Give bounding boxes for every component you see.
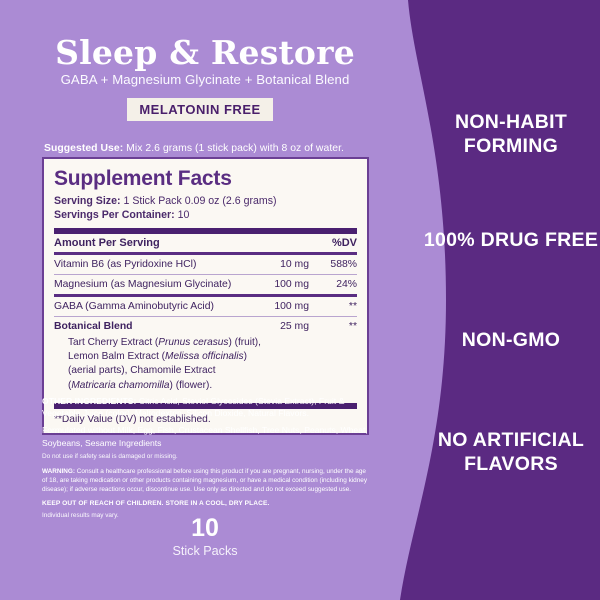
blend-line-1: Tart Cherry Extract (Prunus cerasus) (fr… [68, 337, 261, 348]
melatonin-free-badge: MELATONIN FREE [127, 98, 273, 121]
formulated-without-text: Formulated without Milk, Egg, Fish, Crus… [42, 424, 372, 448]
warning-body: Consult a healthcare professional before… [42, 468, 367, 494]
claim-no-artificial-flavors: NO ARTIFICIAL FLAVORS [422, 428, 600, 476]
supplement-facts-card: Supplement Facts Serving Size: 1 Stick P… [42, 157, 369, 435]
serving-size-line: Serving Size: 1 Stick Pack 0.09 oz (2.6 … [54, 194, 357, 208]
nutrient-dv: 24% [309, 279, 357, 290]
stick-pack-count: 10 [0, 516, 410, 541]
table-row: GABA (Gamma Aminobutyric Acid) 100 mg ** [54, 297, 357, 316]
product-label-panel: NON-HABIT FORMING 100% DRUG FREE NON-GMO… [0, 0, 600, 600]
nutrient-amount: 100 mg [247, 301, 309, 312]
label-main-content: Sleep & Restore GABA + Magnesium Glycina… [0, 0, 410, 600]
warning-text: WARNING: Consult a healthcare profession… [42, 467, 372, 495]
stick-pack-count-label: Stick Packs [0, 544, 410, 558]
nutrient-dv: 588% [309, 259, 357, 270]
nutrient-name: Magnesium (as Magnesium Glycinate) [54, 279, 247, 290]
servings-per-container-line: Servings Per Container: 10 [54, 208, 357, 222]
safety-seal-text: Do not use if safety seal is damaged or … [42, 453, 372, 462]
claim-non-habit-forming: NON-HABIT FORMING [422, 110, 600, 158]
nutrient-name: Vitamin B6 (as Pyridoxine HCl) [54, 259, 247, 270]
blend-line-2: Lemon Balm Extract (Melissa officinalis) [68, 351, 247, 362]
nutrient-name: GABA (Gamma Aminobutyric Acid) [54, 301, 247, 312]
table-row: Magnesium (as Magnesium Glycinate) 100 m… [54, 275, 357, 294]
suggested-use: Suggested Use: Mix 2.6 grams (1 stick pa… [44, 143, 374, 154]
nutrient-amount: 10 mg [247, 259, 309, 270]
column-header-dv: %DV [309, 237, 357, 249]
serving-size-label: Serving Size: [54, 195, 121, 207]
blend-ingredient-list: Tart Cherry Extract (Prunus cerasus) (fr… [54, 336, 357, 398]
blend-line-4: (Matricaria chamomilla) (flower). [68, 380, 212, 391]
other-ingredients: OTHER INGREDIENTS: Citric Acid, Steviol … [42, 395, 372, 419]
fine-print-block: OTHER INGREDIENTS: Citric Acid, Steviol … [42, 395, 372, 519]
warning-label: WARNING: [42, 468, 75, 475]
claims-list: NON-HABIT FORMING 100% DRUG FREE NON-GMO… [422, 0, 600, 600]
blend-amount: 25 mg [247, 321, 309, 332]
table-row: Vitamin B6 (as Pyridoxine HCl) 10 mg 588… [54, 255, 357, 274]
product-subtitle: GABA + Magnesium Glycinate + Botanical B… [0, 72, 410, 87]
servings-per-container-label: Servings Per Container: [54, 209, 175, 221]
blend-dv: ** [309, 321, 357, 332]
supplement-facts-title: Supplement Facts [54, 168, 357, 190]
suggested-use-text: Mix 2.6 grams (1 stick pack) with 8 oz o… [126, 143, 344, 154]
nutrient-dv: ** [309, 301, 357, 312]
servings-per-container-value: 10 [178, 209, 190, 221]
keep-out-of-reach-text: KEEP OUT OF REACH OF CHILDREN. STORE IN … [42, 500, 372, 507]
claim-drug-free: 100% DRUG FREE [422, 228, 600, 252]
table-header-row: Amount Per Serving %DV [54, 234, 357, 252]
suggested-use-label: Suggested Use: [44, 143, 123, 154]
product-title: Sleep & Restore [0, 33, 410, 72]
blend-line-3: (aerial parts), Chamomile Extract [68, 365, 216, 376]
nutrient-amount: 100 mg [247, 279, 309, 290]
blend-name: Botanical Blend [54, 321, 247, 332]
column-header-amount: Amount Per Serving [54, 237, 247, 249]
other-ingredients-label: OTHER INGREDIENTS: [42, 396, 136, 406]
claim-non-gmo: NON-GMO [422, 328, 600, 352]
botanical-blend-row: Botanical Blend 25 mg ** [54, 317, 357, 336]
serving-size-value: 1 Stick Pack 0.09 oz (2.6 grams) [123, 195, 276, 207]
